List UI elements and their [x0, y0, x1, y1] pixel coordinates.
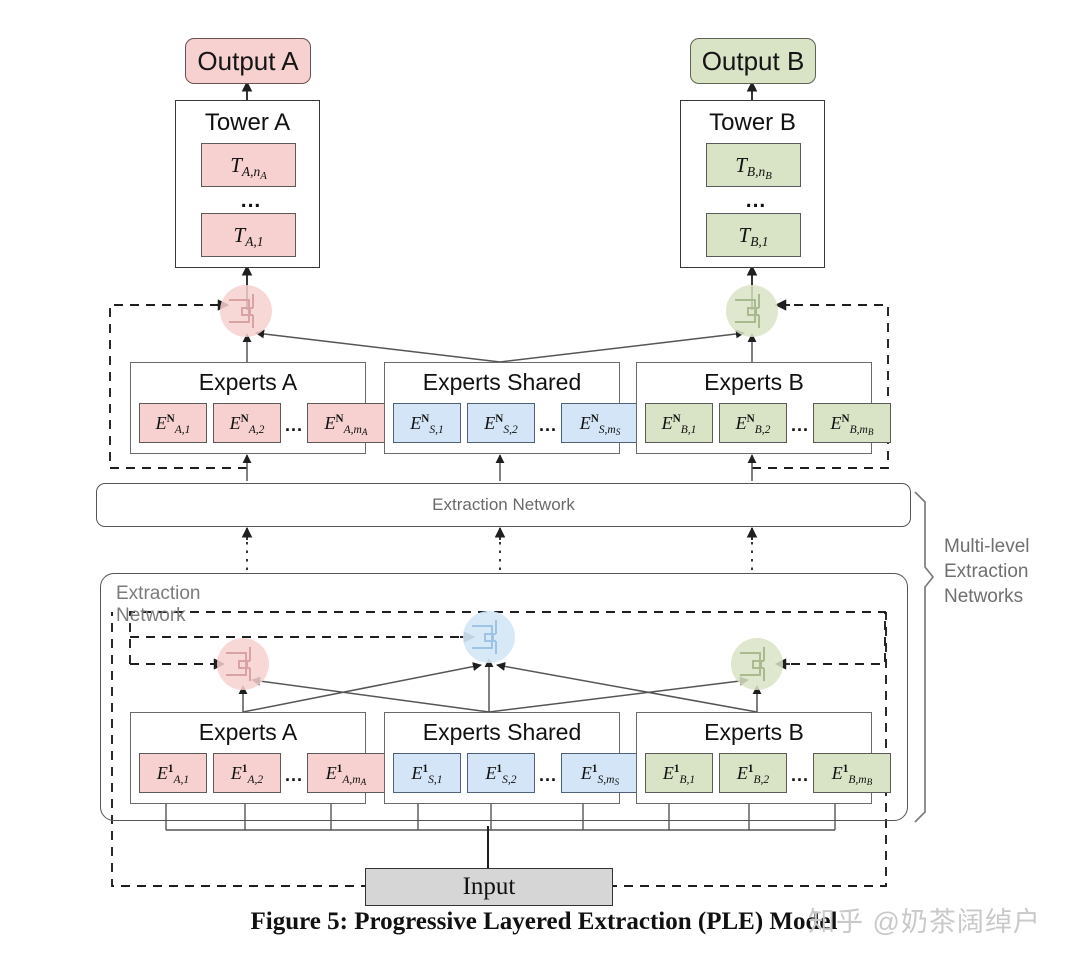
expert-unit-label: ENS,2: [484, 414, 517, 433]
expert-unit-label: ENA,2: [230, 414, 265, 433]
experts-a-level-1[interactable]: Experts A E1A,1 E1A,2 ... E1A,mA: [130, 712, 366, 804]
expert-unit[interactable]: ENA,2: [213, 403, 281, 443]
input-box[interactable]: Input: [365, 868, 613, 906]
expert-unit-label: ENA,mA: [325, 414, 368, 433]
expert-unit[interactable]: E1S,1: [393, 753, 461, 793]
experts-b-level-n-ellipsis: ...: [787, 415, 813, 436]
experts-b-level-1[interactable]: Experts B E1B,1 E1B,2 ... E1B,mB: [636, 712, 872, 804]
experts-b-level-n[interactable]: Experts B ENB,1 ENB,2 ... ENB,mB: [636, 362, 872, 454]
tower-a-unit-top[interactable]: TA,nA: [201, 143, 296, 187]
expert-unit[interactable]: E1S,mS: [561, 753, 639, 793]
expert-unit-label: ENA,1: [156, 414, 191, 433]
tower-a-title: Tower A: [176, 109, 319, 137]
expert-unit[interactable]: ENS,mS: [561, 403, 639, 443]
tower-b-unit-top-label: TB,nB: [735, 155, 772, 176]
expert-unit-label: E1B,mB: [832, 764, 872, 783]
output-a-label: Output A: [197, 46, 298, 77]
tower-b-unit-bottom-label: TB,1: [739, 225, 769, 246]
output-a-pill[interactable]: Output A: [185, 38, 311, 84]
experts-a-level-n-ellipsis: ...: [281, 415, 307, 436]
experts-shared-level-1-title: Experts Shared: [385, 719, 619, 746]
experts-a-level-n-title: Experts A: [131, 369, 365, 396]
gate-b-level-n[interactable]: [725, 284, 779, 338]
expert-unit-label: ENB,mB: [831, 414, 874, 433]
expert-unit-label: ENB,2: [736, 414, 771, 433]
tower-a-unit-bottom[interactable]: TA,1: [201, 213, 296, 257]
multilevel-line1: Multi-level: [944, 534, 1074, 559]
expert-unit[interactable]: E1B,2: [719, 753, 787, 793]
selector-icon: [462, 610, 516, 664]
selector-icon: [219, 284, 273, 338]
tower-b-unit-bottom[interactable]: TB,1: [706, 213, 801, 257]
extraction-network-level-1-label-line2: Network: [116, 605, 246, 627]
selector-icon: [216, 637, 270, 691]
extraction-network-bar[interactable]: Extraction Network: [96, 483, 911, 527]
expert-unit[interactable]: ENB,1: [645, 403, 713, 443]
expert-unit-label: E1B,1: [663, 764, 695, 783]
expert-unit[interactable]: ENS,2: [467, 403, 535, 443]
experts-b-level-1-title: Experts B: [637, 719, 871, 746]
experts-a-level-1-title: Experts A: [131, 719, 365, 746]
extraction-network-level-1-label: Extraction Network: [116, 583, 246, 627]
output-b-label: Output B: [702, 46, 805, 77]
expert-unit[interactable]: ENB,2: [719, 403, 787, 443]
tower-a-unit-top-label: TA,nA: [230, 155, 267, 176]
gate-a-level-1[interactable]: [216, 637, 270, 691]
figure-canvas: Output A Output B Tower A TA,nA ... TA,1…: [0, 0, 1088, 958]
expert-unit-label: E1A,1: [157, 764, 189, 783]
expert-unit-label: E1B,2: [737, 764, 769, 783]
experts-shared-level-1[interactable]: Experts Shared E1S,1 E1S,2 ... E1S,mS: [384, 712, 620, 804]
tower-a-ellipsis: ...: [233, 189, 269, 213]
expert-unit-label: ENS,mS: [580, 414, 621, 433]
tower-b-title: Tower B: [681, 109, 824, 137]
input-label: Input: [463, 873, 516, 901]
expert-unit[interactable]: E1S,2: [467, 753, 535, 793]
expert-unit[interactable]: E1A,mA: [307, 753, 385, 793]
expert-unit-label: E1A,mA: [326, 764, 366, 783]
expert-unit-label: ENS,1: [410, 414, 443, 433]
experts-shared-level-1-ellipsis: ...: [535, 765, 561, 786]
selector-icon: [725, 284, 779, 338]
expert-unit-label: E1A,2: [231, 764, 263, 783]
expert-unit[interactable]: ENA,1: [139, 403, 207, 443]
experts-shared-level-n-ellipsis: ...: [535, 415, 561, 436]
multilevel-line3: Networks: [944, 584, 1074, 609]
gate-b-level-1[interactable]: [730, 637, 784, 691]
tower-b-unit-top[interactable]: TB,nB: [706, 143, 801, 187]
expert-unit[interactable]: E1A,1: [139, 753, 207, 793]
extraction-network-level-1-label-line1: Extraction: [116, 583, 246, 605]
experts-b-level-1-ellipsis: ...: [787, 765, 813, 786]
expert-unit-label: E1S,1: [412, 764, 443, 783]
tower-b[interactable]: Tower B TB,nB ... TB,1: [680, 100, 825, 268]
expert-unit[interactable]: E1B,mB: [813, 753, 891, 793]
gate-shared-level-1[interactable]: [462, 610, 516, 664]
experts-a-level-n[interactable]: Experts A ENA,1 ENA,2 ... ENA,mA: [130, 362, 366, 454]
expert-unit-label: E1S,mS: [581, 764, 619, 783]
expert-unit-label: ENB,1: [662, 414, 697, 433]
multilevel-line2: Extraction: [944, 559, 1074, 584]
tower-a[interactable]: Tower A TA,nA ... TA,1: [175, 100, 320, 268]
expert-unit-label: E1S,2: [486, 764, 517, 783]
experts-a-level-1-ellipsis: ...: [281, 765, 307, 786]
tower-b-ellipsis: ...: [738, 189, 774, 213]
extraction-network-bar-label: Extraction Network: [432, 495, 575, 515]
expert-unit[interactable]: ENS,1: [393, 403, 461, 443]
expert-unit[interactable]: ENA,mA: [307, 403, 385, 443]
watermark: 知乎 @奶茶阔绰户: [808, 900, 1041, 939]
tower-a-unit-bottom-label: TA,1: [234, 225, 264, 246]
experts-shared-level-n[interactable]: Experts Shared ENS,1 ENS,2 ... ENS,mS: [384, 362, 620, 454]
experts-shared-level-n-title: Experts Shared: [385, 369, 619, 396]
expert-unit[interactable]: E1B,1: [645, 753, 713, 793]
expert-unit[interactable]: E1A,2: [213, 753, 281, 793]
expert-unit[interactable]: ENB,mB: [813, 403, 891, 443]
output-b-pill[interactable]: Output B: [690, 38, 816, 84]
gate-a-level-n[interactable]: [219, 284, 273, 338]
selector-icon: [730, 637, 784, 691]
multilevel-bracket-label: Multi-level Extraction Networks: [944, 534, 1074, 609]
experts-b-level-n-title: Experts B: [637, 369, 871, 396]
